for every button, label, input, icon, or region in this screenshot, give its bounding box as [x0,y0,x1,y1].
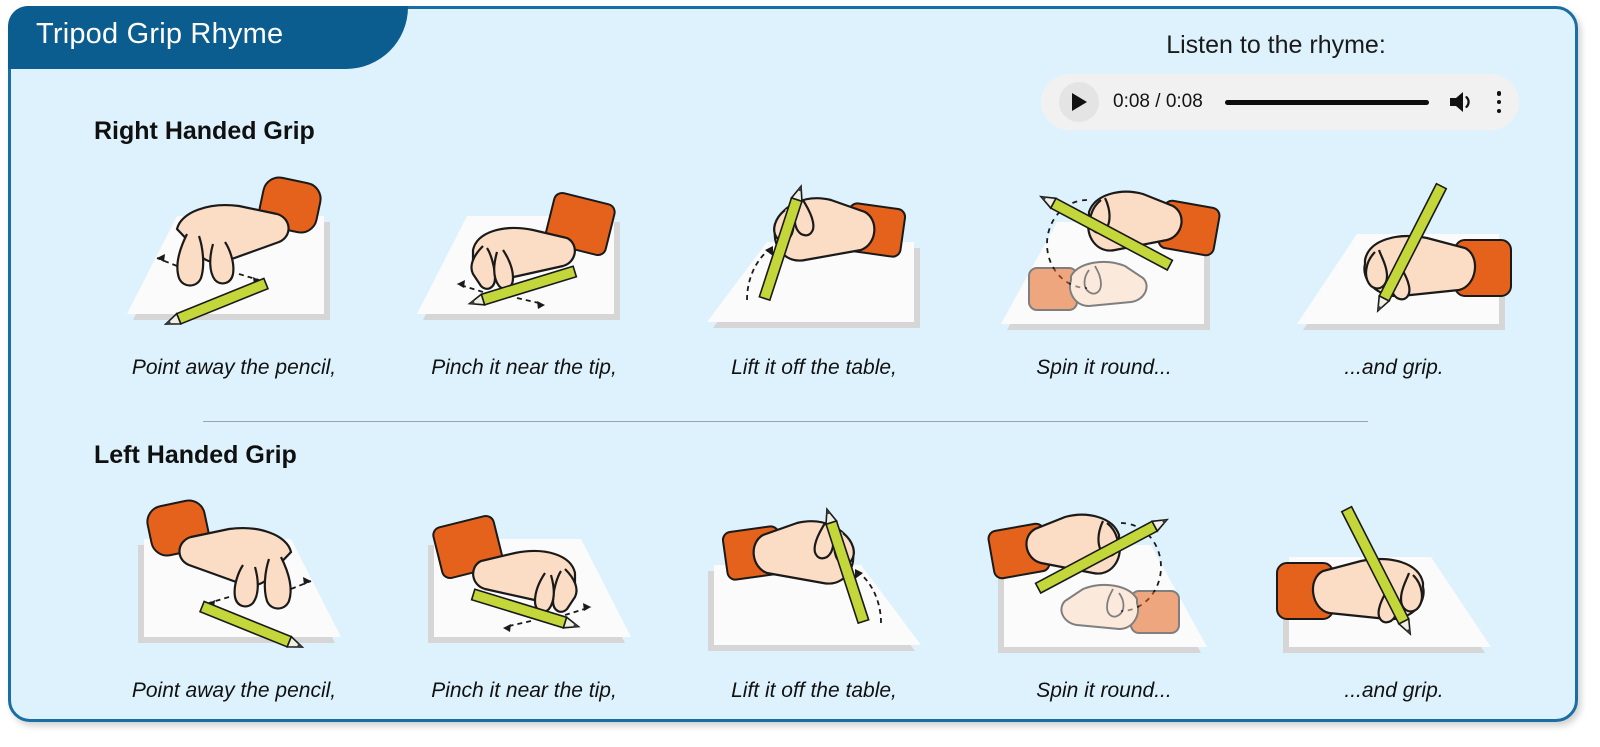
illustration-hand-pinch-tip [399,497,649,657]
step-caption: Lift it off the table, [731,356,897,380]
step-caption: Point away the pencil, [132,356,336,380]
menu-dot [1497,109,1502,114]
page-title: Tripod Grip Rhyme [8,18,283,57]
step-card: Pinch it near the tip, [379,497,669,703]
steps-row-right-handed: Point away the pencil, [11,174,1575,380]
tripod-grip-card: Tripod Grip Rhyme Listen to the rhyme: 0… [8,6,1578,722]
step-card: ...and grip. [1249,174,1539,380]
volume-icon[interactable] [1447,89,1475,115]
step-card: Spin it round... [959,174,1249,380]
illustration-hand-spin-round [979,174,1229,334]
step-card: Lift it off the table, [669,174,959,380]
step-card: Point away the pencil, [89,174,379,380]
audio-progress-track [1225,100,1429,105]
step-caption: ...and grip. [1344,679,1443,703]
step-card: Point away the pencil, [89,497,379,703]
step-caption: ...and grip. [1344,356,1443,380]
section-divider [203,421,1368,422]
menu-dot [1497,91,1502,96]
audio-player[interactable]: 0:08 / 0:08 [1041,74,1519,130]
illustration-hand-lift-off [689,497,939,657]
play-icon[interactable] [1059,82,1099,122]
audio-time-display: 0:08 / 0:08 [1113,91,1203,113]
step-caption: Spin it round... [1036,679,1171,703]
step-card: Lift it off the table, [669,497,959,703]
step-card: Spin it round... [959,497,1249,703]
illustration-hand-final-grip [1269,174,1519,334]
more-vertical-icon[interactable] [1497,91,1502,113]
step-caption: Pinch it near the tip, [431,679,617,703]
illustration-hand-spin-round [979,497,1229,657]
illustration-hand-pinch-tip [399,174,649,334]
illustration-hand-final-grip [1269,497,1519,657]
menu-dot [1497,100,1502,105]
audio-area: Listen to the rhyme: 0:08 / 0:08 [1041,31,1531,130]
section-heading-left-handed: Left Handed Grip [94,441,297,470]
step-card: ...and grip. [1249,497,1539,703]
step-caption: Point away the pencil, [132,679,336,703]
step-caption: Pinch it near the tip, [431,356,617,380]
step-caption: Spin it round... [1036,356,1171,380]
illustration-hand-lift-off [689,174,939,334]
steps-row-left-handed: Point away the pencil, [11,497,1575,703]
illustration-hand-point-away [109,497,359,657]
listen-label: Listen to the rhyme: [1041,31,1511,60]
step-caption: Lift it off the table, [731,679,897,703]
title-tab: Tripod Grip Rhyme [8,6,408,69]
step-card: Pinch it near the tip, [379,174,669,380]
section-heading-right-handed: Right Handed Grip [94,117,315,146]
audio-progress-fill [1225,100,1429,105]
illustration-hand-point-away [109,174,359,334]
audio-progress-slider[interactable] [1225,100,1429,105]
